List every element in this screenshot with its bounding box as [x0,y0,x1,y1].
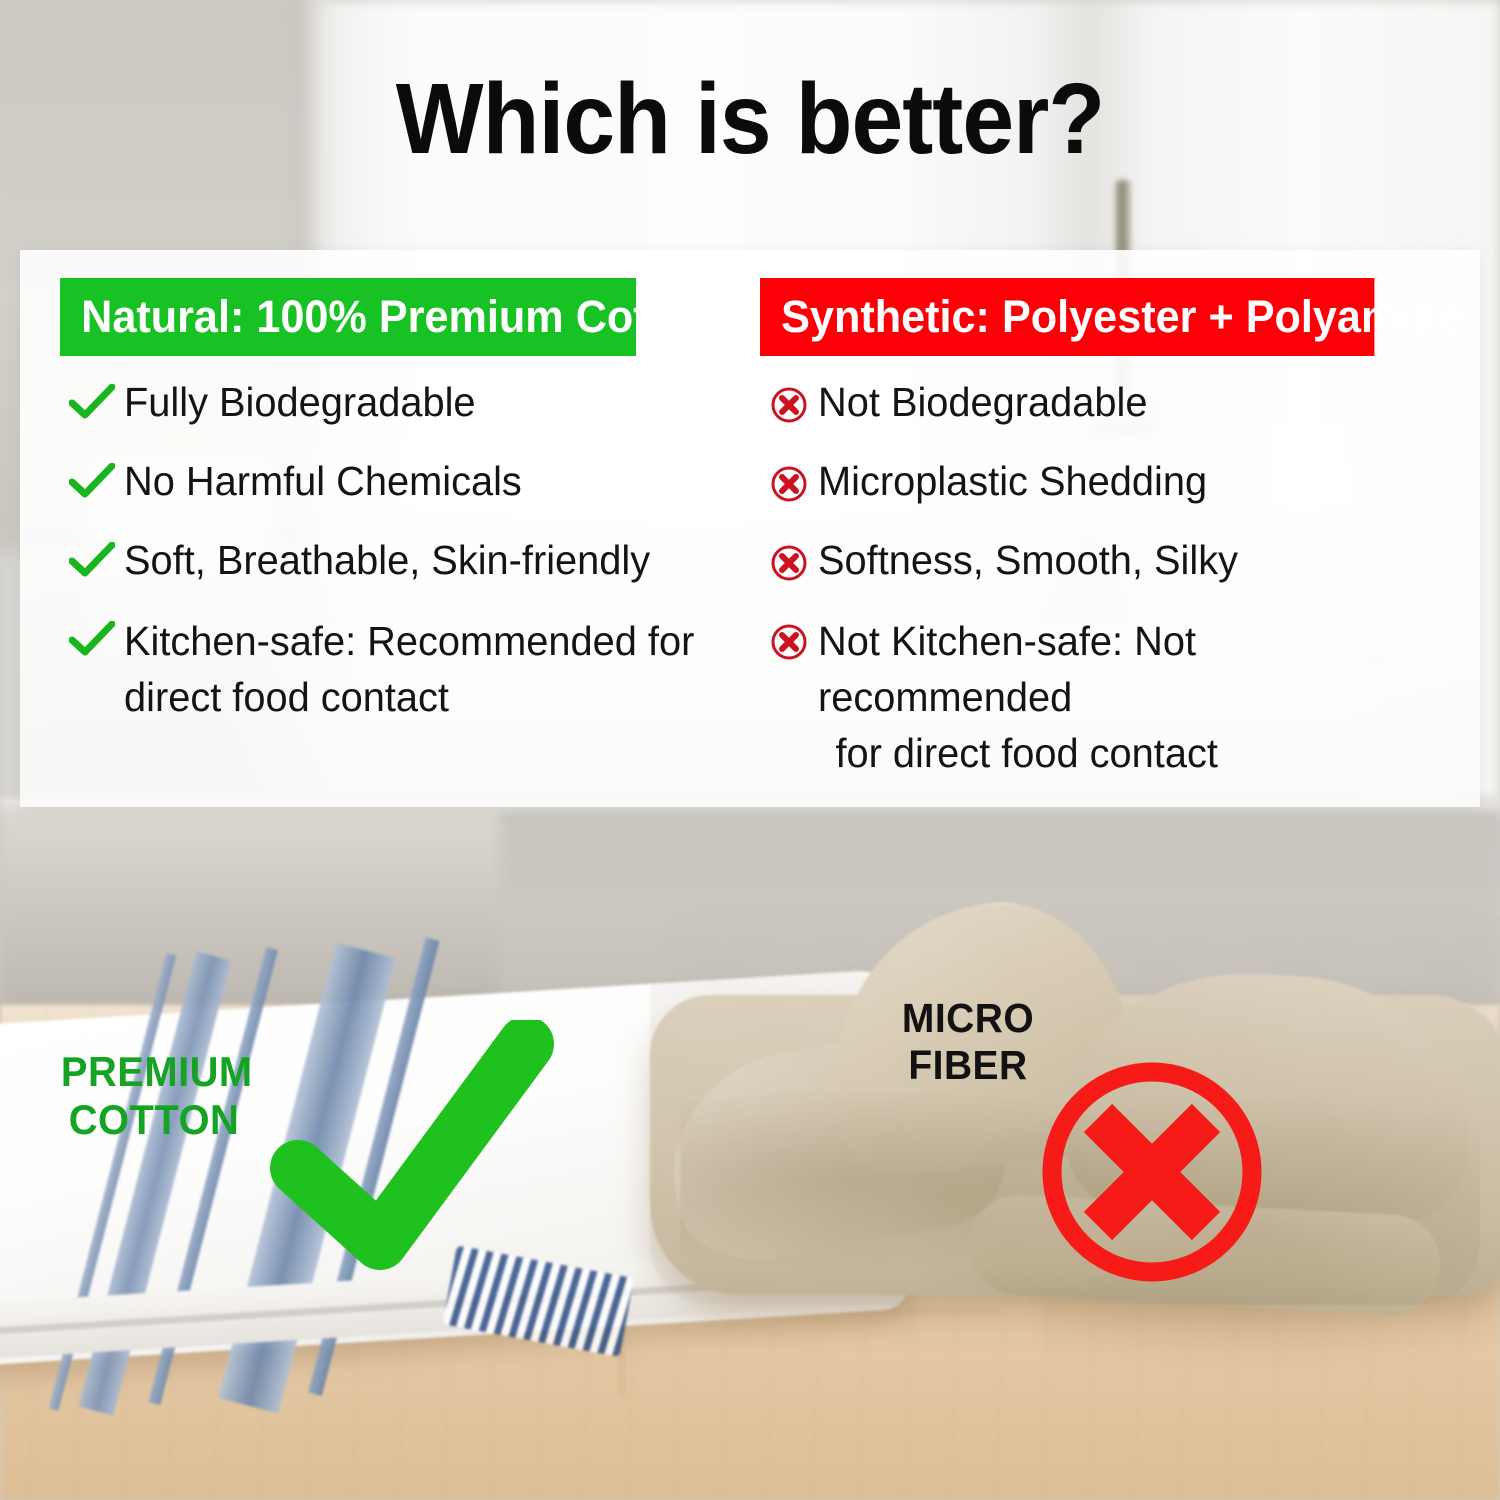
circle-x-icon [760,376,818,424]
list-item-label-line2: for direct food contact [818,725,1460,781]
comparison-column-natural: Natural: 100% Premium Cotton Fully Biode… [20,250,740,807]
list-item-label: Kitchen-safe: Recommended for direct foo… [124,613,694,725]
premium-cotton-label-line1: PREMIUM [61,1048,253,1095]
comparison-panel: Natural: 100% Premium Cotton Fully Biode… [20,250,1480,807]
infographic-canvas: Which is better? Natural: 100% Premium C… [0,0,1500,1500]
check-icon [60,455,124,499]
micro-fiber-label: MICRO FIBER [897,995,1040,1089]
list-item-label: Not Kitchen-safe: Not recommended for di… [818,613,1460,781]
list-item: Soft, Breathable, Skin-friendly [60,534,740,587]
circle-x-icon [760,534,818,582]
synthetic-banner: Synthetic: Polyester + Polyamide [760,278,1374,356]
micro-fiber-label-line2: FIBER [908,1042,1027,1088]
big-check-icon [268,1020,558,1275]
circle-x-icon [760,455,818,503]
natural-banner: Natural: 100% Premium Cotton [60,278,636,356]
list-item-label: Softness, Smooth, Silky [818,534,1238,587]
check-icon [60,376,124,420]
list-item-label: Soft, Breathable, Skin-friendly [124,534,650,587]
list-item-label-line2: direct food contact [124,669,694,725]
comparison-column-synthetic: Synthetic: Polyester + Polyamide Not Bio… [740,250,1480,807]
list-item: Kitchen-safe: Recommended for direct foo… [60,613,740,725]
list-item: Microplastic Shedding [760,455,1480,508]
micro-fiber-label-line1: MICRO [902,995,1034,1041]
list-item-label: Not Biodegradable [818,376,1147,429]
list-item-label: Fully Biodegradable [124,376,476,429]
list-item: Fully Biodegradable [60,376,740,429]
check-icon [60,613,124,657]
list-item: Softness, Smooth, Silky [760,534,1480,587]
synthetic-drawbacks-list: Not Biodegradable Microplastic Shedding [760,376,1480,781]
premium-cotton-label: PREMIUM COTTON [61,1048,247,1144]
big-circle-x-icon [1032,1052,1272,1297]
check-icon [60,534,124,578]
premium-cotton-label-line2: COTTON [69,1096,240,1143]
list-item-label: Microplastic Shedding [818,455,1207,508]
list-item: Not Biodegradable [760,376,1480,429]
list-item-label: No Harmful Chemicals [124,455,522,508]
natural-benefits-list: Fully Biodegradable No Harmful Chemicals [60,376,740,725]
list-item-label-line1: Not Kitchen-safe: Not recommended [818,613,1460,725]
circle-x-icon [760,613,818,661]
list-item: No Harmful Chemicals [60,455,740,508]
list-item-label-line1: Kitchen-safe: Recommended for [124,613,694,669]
list-item: Not Kitchen-safe: Not recommended for di… [760,613,1480,781]
page-title: Which is better? [53,62,1448,177]
